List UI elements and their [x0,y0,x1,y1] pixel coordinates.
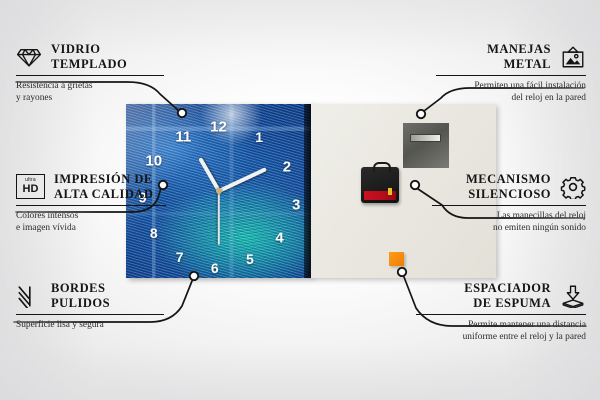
clock-numeral-3: 3 [292,197,300,212]
callout-title: MECANISMO SILENCIOSO [466,172,551,202]
callout-header: MECANISMO SILENCIOSO [430,172,586,202]
clock-numeral-7: 7 [176,250,184,264]
callout-title: IMPRESIÓN DE ALTA CALIDAD [54,172,153,202]
callout-subtitle: Permite mantener una distancia uniforme … [414,319,586,343]
clock-side-edge [304,104,311,278]
polished-edges-icon [16,284,42,308]
callout-title: ESPACIADOR DE ESPUMA [464,281,551,311]
callout-rule [432,205,586,207]
clock-center-cap [216,188,222,194]
callout-subtitle: Resistencia a grietas y rayones [16,80,166,104]
clock-mechanism [361,167,399,203]
callout-title: VIDRIO TEMPLADO [51,42,127,72]
diamond-icon [16,45,42,69]
clock-numeral-6: 6 [211,261,219,275]
callout-subtitle: Las manecillas del reloj no emiten ningú… [430,210,586,234]
foam-spacer [389,252,404,266]
callout-title: MANEJAS METAL [487,42,551,72]
wall-frame-icon [560,45,586,69]
callout-vidrio-templado: VIDRIO TEMPLADO Resistencia a grietas y … [16,42,166,105]
callout-espaciador-espuma: ESPACIADOR DE ESPUMA Permite mantener un… [414,281,586,344]
callout-rule [416,314,586,316]
ultra-hd-icon-large-text: HD [23,184,39,195]
callout-header: BORDES PULIDOS [16,281,166,311]
callout-title: BORDES PULIDOS [51,281,110,311]
clock-numeral-4: 4 [275,230,283,245]
callout-manejas-metal: MANEJAS METAL Permiten una fácil instala… [434,42,586,105]
callout-header: MANEJAS METAL [434,42,586,72]
clock-numeral-11: 11 [175,130,191,145]
clock-second-hand [218,191,220,245]
callout-rule [436,75,586,77]
callout-bordes-pulidos: BORDES PULIDOS Superficie lisa y segura [16,281,166,331]
callout-mecanismo-silencioso: MECANISMO SILENCIOSO Las manecillas del … [430,172,586,235]
callout-subtitle: Superficie lisa y segura [16,319,166,331]
callout-subtitle: Colores intensos e imagen vívida [16,210,168,234]
metal-hanger-plate [403,123,449,168]
callout-rule [16,75,164,77]
hanger-keyhole-slot [410,134,441,142]
callout-rule [16,314,164,316]
clock-numeral-10: 10 [145,154,162,169]
callout-subtitle: Permiten una fácil instalación del reloj… [434,80,586,104]
mechanism-label [364,191,396,200]
callout-rule [16,205,166,207]
mechanism-hanging-loop [373,162,391,172]
foam-spacer-icon [560,284,586,308]
gear-icon [560,175,586,199]
clock-numeral-5: 5 [246,252,254,266]
clock-numeral-12: 12 [210,119,227,134]
clock-numeral-1: 1 [255,130,263,144]
clock-numeral-2: 2 [283,159,291,174]
callout-impresion-alta-calidad: ultra HD IMPRESIÓN DE ALTA CALIDAD Color… [16,172,168,235]
callout-header: ESPACIADOR DE ESPUMA [414,281,586,311]
ultra-hd-icon: ultra HD [16,174,45,199]
infographic-canvas: 12 1 2 3 4 5 6 7 8 9 10 11 [0,0,600,400]
callout-header: ultra HD IMPRESIÓN DE ALTA CALIDAD [16,172,168,202]
callout-header: VIDRIO TEMPLADO [16,42,166,72]
